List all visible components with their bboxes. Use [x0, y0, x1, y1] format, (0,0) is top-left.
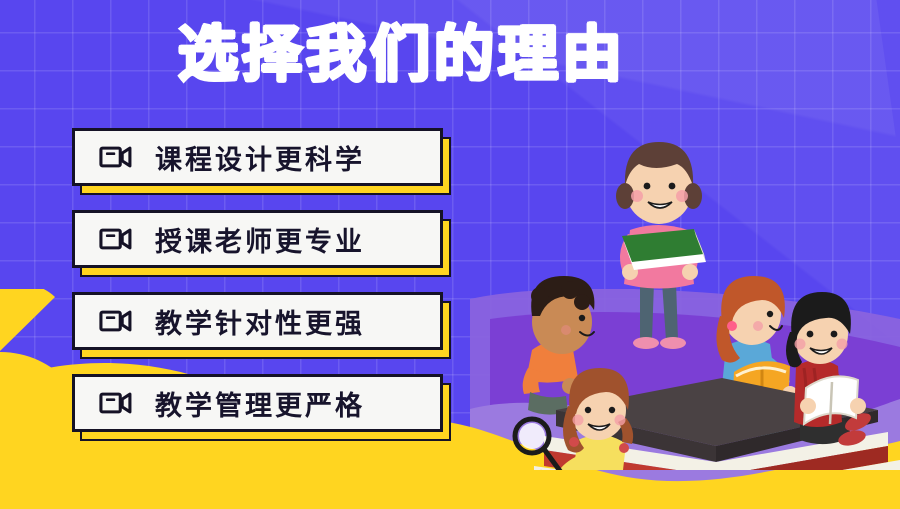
feature-card-2[interactable]: 授课老师更专业	[72, 210, 443, 268]
feature-card-3[interactable]: 教学针对性更强	[72, 292, 443, 350]
video-camera-icon	[99, 144, 133, 170]
feature-label: 教学管理更严格	[155, 384, 365, 423]
feature-card-4[interactable]: 教学管理更严格	[72, 374, 443, 432]
feature-label: 教学针对性更强	[155, 302, 365, 341]
girl-standing-with-green-book	[616, 142, 706, 349]
video-camera-icon	[99, 226, 133, 252]
video-camera-icon	[99, 390, 133, 416]
children-reading-illustration	[470, 110, 900, 470]
poster-canvas: 选择我们的理由 课程设计更科学 授课老师更专业	[0, 0, 900, 509]
video-camera-icon	[99, 308, 133, 334]
feature-list: 课程设计更科学 授课老师更专业 教学	[72, 128, 443, 456]
feature-card-1[interactable]: 课程设计更科学	[72, 128, 443, 186]
feature-label: 授课老师更专业	[155, 220, 365, 259]
feature-label: 课程设计更科学	[155, 138, 365, 177]
page-title: 选择我们的理由	[178, 20, 626, 90]
